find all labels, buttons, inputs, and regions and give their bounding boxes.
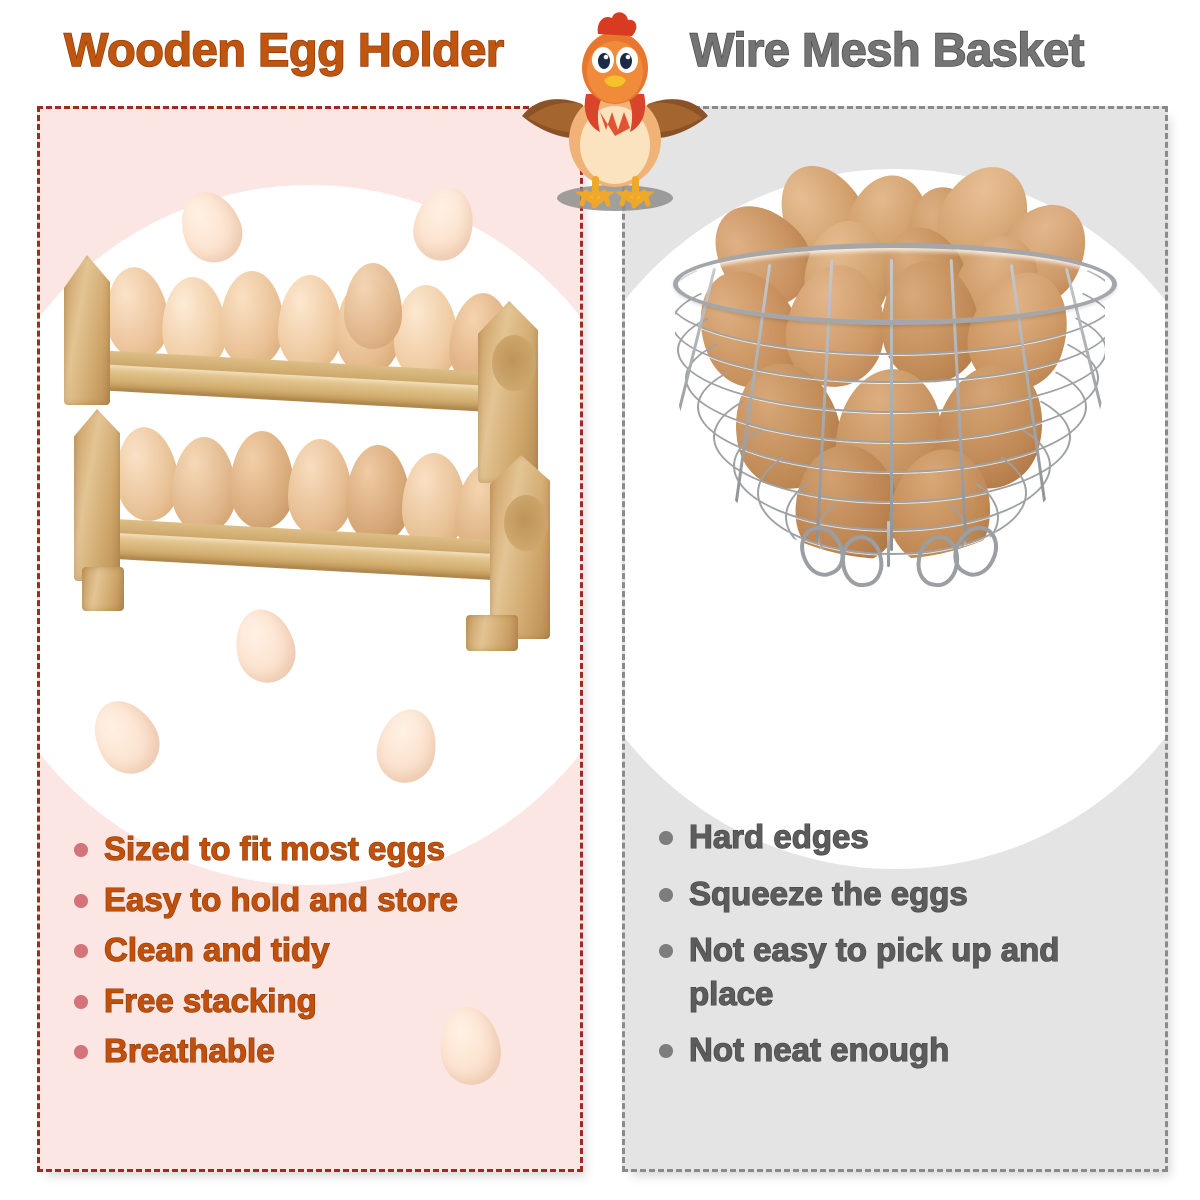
list-item: Not easy to pick up and place: [659, 928, 1147, 1015]
bullet-dot: [74, 894, 88, 908]
list-item: Squeeze the eggs: [659, 872, 1147, 916]
bullet-dot: [74, 843, 88, 857]
list-item-label: Easy to hold and store: [104, 878, 458, 922]
wooden-egg-holder-image: [58, 249, 568, 649]
left-feature-list: Sized to fit most eggs Easy to hold and …: [74, 827, 562, 1080]
eye-right-icon: [620, 53, 632, 69]
bullet-dot: [659, 831, 673, 845]
bullet-dot: [74, 944, 88, 958]
list-item-label: Free stacking: [104, 979, 317, 1023]
list-item-label: Squeeze the eggs: [689, 872, 968, 916]
eye-left-icon: [598, 53, 610, 69]
left-panel-title: Wooden Egg Holder: [64, 22, 504, 77]
right-comparison-panel: Hard edges Squeeze the eggs Not easy to …: [622, 106, 1168, 1172]
list-item-label: Breathable: [104, 1029, 275, 1073]
right-panel-title: Wire Mesh Basket: [690, 22, 1084, 77]
bullet-dot: [659, 944, 673, 958]
left-comparison-panel: Sized to fit most eggs Easy to hold and …: [37, 106, 583, 1172]
list-item-label: Hard edges: [689, 815, 869, 859]
list-item: Easy to hold and store: [74, 878, 562, 922]
wire-mesh-basket-image: [655, 139, 1125, 579]
list-item-label: Not neat enough: [689, 1028, 949, 1072]
list-item-label: Sized to fit most eggs: [104, 827, 445, 871]
list-item-label: Clean and tidy: [104, 928, 330, 972]
bullet-dot: [659, 888, 673, 902]
basket-rim: [673, 243, 1117, 325]
list-item: Clean and tidy: [74, 928, 562, 972]
list-item: Hard edges: [659, 815, 1147, 859]
right-drawback-list: Hard edges Squeeze the eggs Not easy to …: [659, 815, 1147, 1085]
list-item-label: Not easy to pick up and place: [689, 928, 1147, 1015]
list-item: Not neat enough: [659, 1028, 1147, 1072]
basket-center-post: [887, 521, 890, 567]
bullet-dot: [74, 1045, 88, 1059]
mascot-shadow-ellipse: [557, 185, 673, 211]
bullet-dot: [659, 1044, 673, 1058]
chicken-mascot-icon: [520, 8, 710, 213]
list-item: Sized to fit most eggs: [74, 827, 562, 871]
list-item: Breathable: [74, 1029, 562, 1073]
comb-icon: [598, 12, 637, 36]
list-item: Free stacking: [74, 979, 562, 1023]
bullet-dot: [74, 995, 88, 1009]
